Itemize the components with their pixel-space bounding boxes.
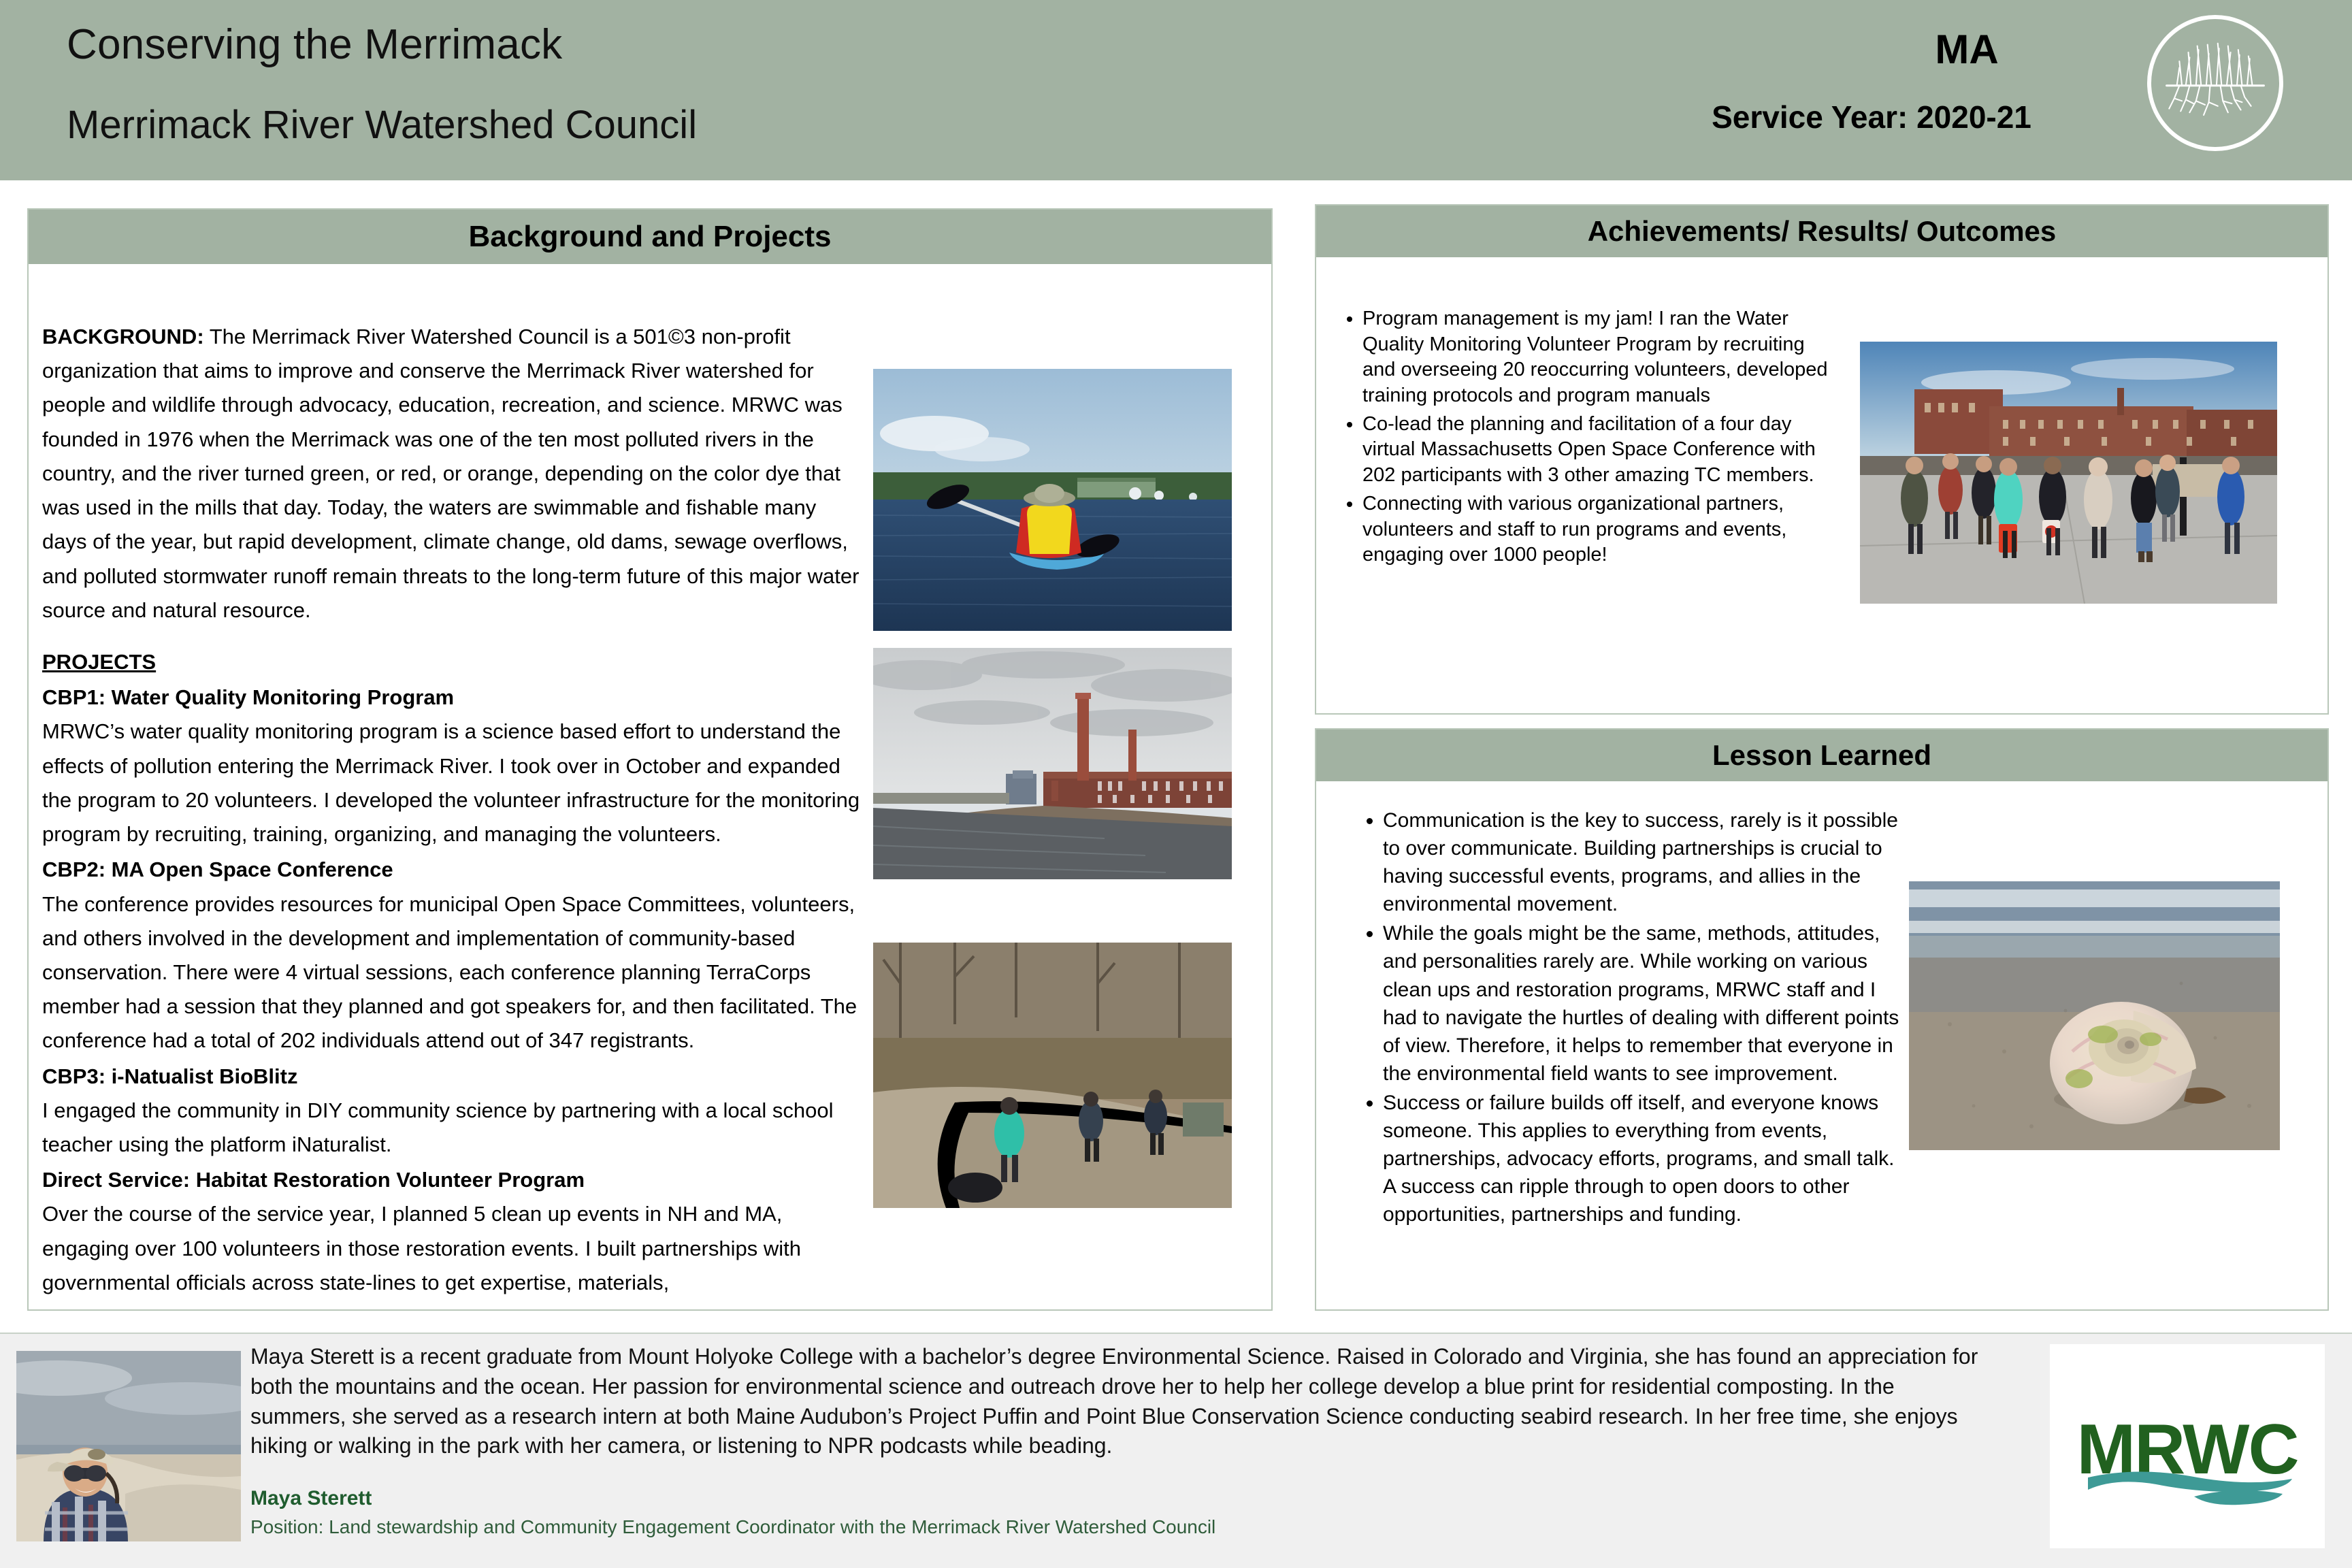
mrwc-logo-icon: MRWC (2050, 1344, 2325, 1548)
list-item: Connecting with various organizational p… (1362, 491, 1836, 568)
list-item: Program management is my jam! I ran the … (1362, 306, 1836, 409)
background-label: BACKGROUND: (42, 325, 204, 348)
panel-achievements-heading: Achievements/ Results/ Outcomes (1316, 206, 2327, 257)
background-text: The Merrimack River Watershed Council is… (42, 325, 859, 622)
poster-title: Conserving the Merrimack (67, 20, 562, 69)
bio-paragraph: Maya Sterett is a recent graduate from M… (250, 1342, 1993, 1461)
projects-heading: PROJECTS (42, 645, 866, 679)
project-title-cbp2: CBP2: MA Open Space Conference (42, 853, 866, 887)
project-text-direct-service: Over the course of the service year, I p… (42, 1197, 866, 1300)
background-panel-body: BACKGROUND: The Merrimack River Watershe… (42, 320, 866, 1300)
state-label: MA (1837, 26, 2096, 73)
lesson-list: Communication is the key to success, rar… (1333, 806, 1911, 1228)
achievements-panel-body: Program management is my jam! I ran the … (1333, 306, 1836, 571)
project-title-cbp1: CBP1: Water Quality Monitoring Program (42, 681, 866, 715)
bio-position: Position: Land stewardship and Community… (250, 1516, 1215, 1538)
masked-volunteer-group-photo (1860, 342, 2277, 604)
mill-buildings-river-photo (873, 648, 1232, 879)
list-item: While the goals might be the same, metho… (1383, 919, 1911, 1088)
panel-background-heading: Background and Projects (29, 210, 1271, 264)
service-year-label: Service Year: 2020-21 (1633, 99, 2110, 135)
moon-snail-shell-beach-photo (1909, 881, 2280, 1150)
project-title-cbp3: CBP3: i-Natualist BioBlitz (42, 1060, 866, 1094)
project-text-cbp1: MRWC’s water quality monitoring program … (42, 715, 866, 851)
bio-name: Maya Sterett (250, 1487, 372, 1510)
panel-lesson-heading: Lesson Learned (1316, 730, 2327, 781)
project-text-cbp3: I engaged the community in DIY community… (42, 1094, 866, 1162)
volunteer-cleanup-photo (873, 943, 1232, 1208)
terracorps-logo-icon (2147, 15, 2283, 151)
maya-sterett-portrait-photo (16, 1351, 241, 1541)
kayaker-on-river-photo (873, 369, 1232, 631)
project-text-cbp2: The conference provides resources for mu… (42, 887, 866, 1058)
poster-subtitle: Merrimack River Watershed Council (67, 102, 697, 148)
project-title-direct-service: Direct Service: Habitat Restoration Volu… (42, 1163, 866, 1197)
poster-header: Conserving the Merrimack Merrimack River… (0, 0, 2352, 180)
list-item: Communication is the key to success, rar… (1383, 806, 1911, 918)
poster-root: Conserving the Merrimack Merrimack River… (0, 0, 2352, 1568)
achievements-list: Program management is my jam! I ran the … (1333, 306, 1836, 568)
list-item: Co-lead the planning and facilitation of… (1362, 412, 1836, 489)
lesson-panel-body: Communication is the key to success, rar… (1333, 806, 1911, 1230)
list-item: Success or failure builds off itself, an… (1383, 1089, 1911, 1228)
background-paragraph: BACKGROUND: The Merrimack River Watershe… (42, 320, 866, 627)
